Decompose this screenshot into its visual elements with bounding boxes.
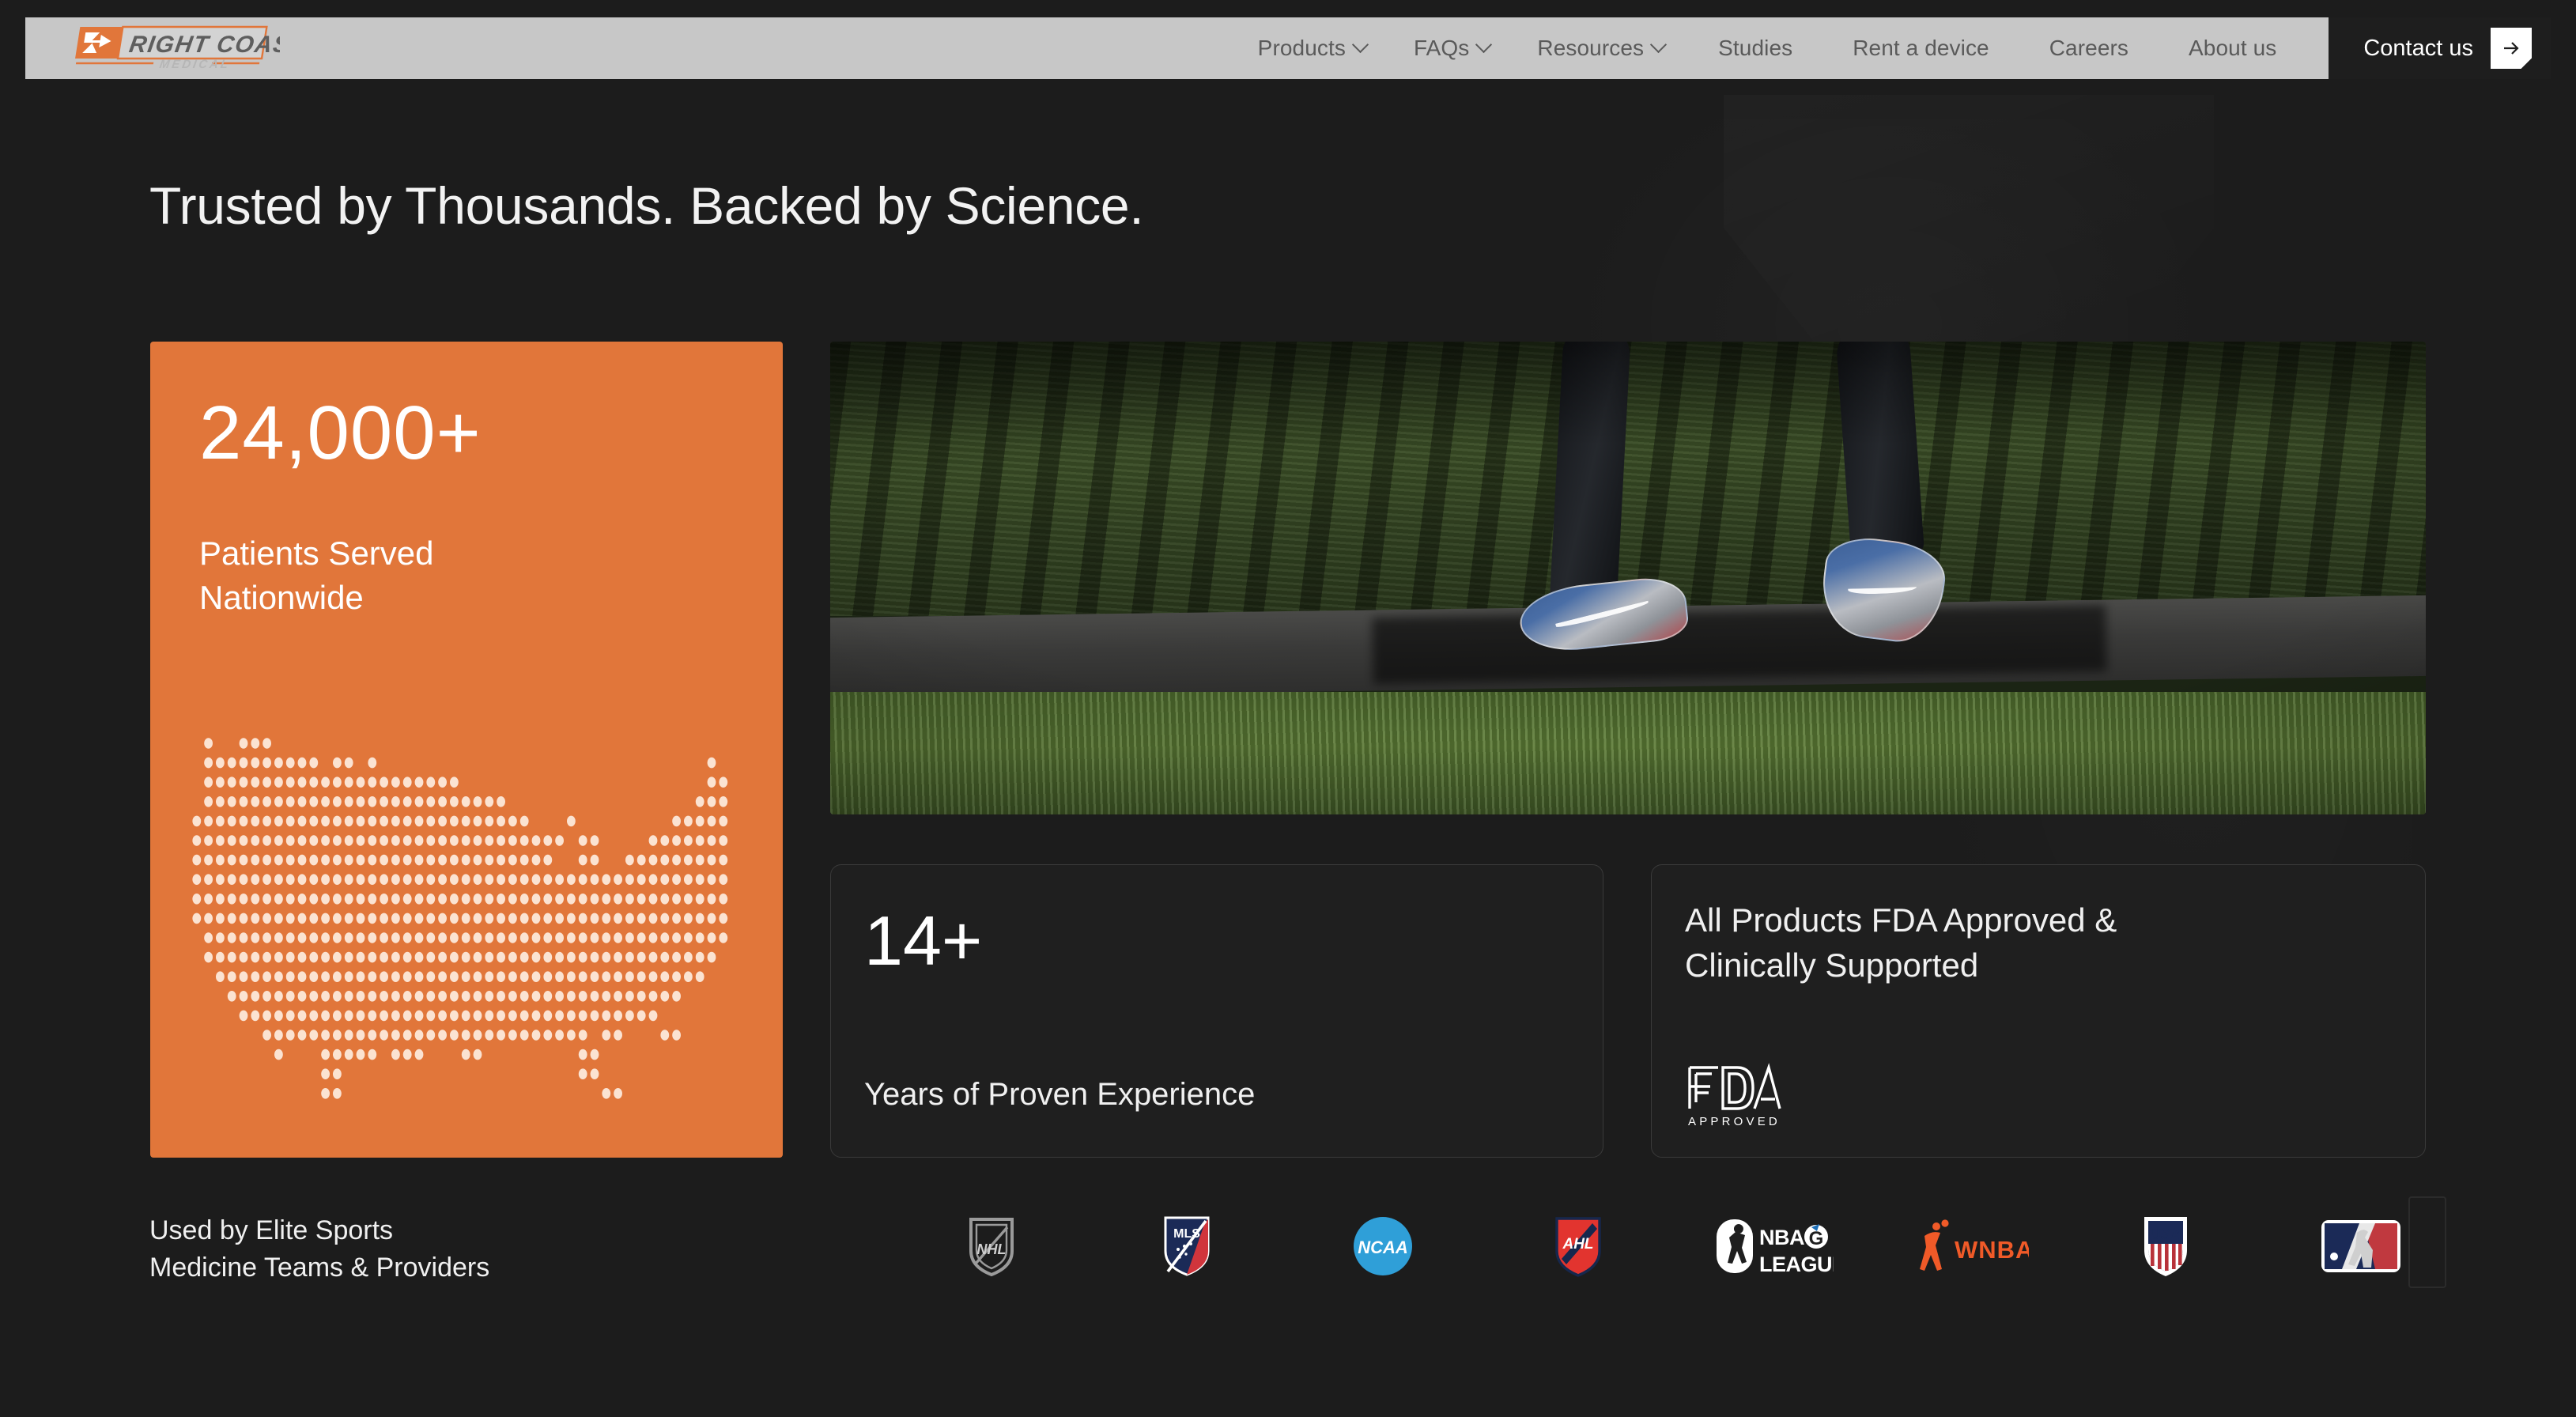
nav-label-resources: Resources [1537, 36, 1644, 61]
patients-served-label-line2: Nationwide [199, 576, 674, 620]
wnba-logo-text: WNBA [1955, 1236, 2029, 1264]
years-experience-value: 14+ [864, 906, 982, 976]
nav-item-careers[interactable]: Careers [2019, 36, 2159, 61]
nav-item-studies[interactable]: Studies [1688, 36, 1822, 61]
nav-item-resources[interactable]: Resources [1513, 36, 1688, 61]
page-root: RIGHT COAST MEDICAL Products FAQs Resour… [0, 0, 2576, 1417]
nav-label-about-us: About us [2189, 36, 2276, 61]
nav-item-faqs[interactable]: FAQs [1390, 36, 1513, 61]
image-vignette [830, 342, 2426, 814]
fda-card-title-line1: All Products FDA Approved & [1685, 898, 2365, 943]
contact-us-button[interactable]: Contact us [2329, 17, 2551, 79]
chevron-down-icon [1352, 36, 1369, 52]
patients-served-card: 24,000+ Patients Served Nationwide [150, 342, 783, 1158]
patients-served-value: 24,000+ [199, 395, 482, 471]
ahl-logo-text: AHL [1562, 1236, 1594, 1253]
svg-text:NBA: NBA [1759, 1226, 1804, 1249]
logo-strip-partial-item[interactable] [2408, 1196, 2446, 1288]
logo-strip-label-line2: Medicine Teams & Providers [149, 1249, 489, 1287]
years-experience-label: Years of Proven Experience [864, 1077, 1255, 1113]
fda-approved-card: All Products FDA Approved & Clinically S… [1651, 864, 2426, 1158]
mls-logo[interactable]: MLS [1090, 1192, 1286, 1300]
nav-item-rent-a-device[interactable]: Rent a device [1822, 36, 2019, 61]
nba-g-league-logo[interactable]: NBA G LEAGUE NBA G LEAGUE [1676, 1192, 1872, 1300]
patients-served-label-line1: Patients Served [199, 531, 674, 576]
wnba-logo[interactable]: WNBA [1872, 1192, 2068, 1300]
nav-label-careers: Careers [2049, 36, 2128, 61]
nav-label-rent-a-device: Rent a device [1853, 36, 1989, 61]
logo-strip-label: Used by Elite Sports Medicine Teams & Pr… [149, 1212, 489, 1286]
chevron-down-icon [1475, 36, 1492, 52]
fda-approved-badge: APPROVED FDA [1685, 1063, 1781, 1132]
brand-logo[interactable]: RIGHT COAST MEDICAL [66, 24, 280, 74]
mls-logo-text: MLS [1173, 1227, 1200, 1241]
hero-image [830, 342, 2426, 814]
ahl-logo[interactable]: AHL [1481, 1192, 1677, 1300]
svg-text:G: G [1808, 1228, 1823, 1249]
years-experience-card: 14+ Years of Proven Experience [830, 864, 1603, 1158]
contact-us-label: Contact us [2363, 36, 2473, 62]
main-navigation: Products FAQs Resources Studies Rent a d… [1234, 17, 2551, 79]
logo-strip-label-line1: Used by Elite Sports [149, 1212, 489, 1249]
ncaa-logo-text: NCAA [1358, 1238, 1408, 1257]
hero-image-scene [830, 342, 2426, 814]
nhl-logo-text: NHL [976, 1241, 1006, 1257]
ncaa-logo[interactable]: NCAA [1285, 1192, 1481, 1300]
arrow-right-icon [2491, 28, 2532, 69]
fda-badge-sub: APPROVED [1688, 1115, 1781, 1128]
nhl-logo[interactable]: NHL [893, 1192, 1090, 1300]
nav-label-studies: Studies [1718, 36, 1792, 61]
dotted-us-map-graphic [182, 737, 751, 1109]
patients-served-label: Patients Served Nationwide [199, 531, 674, 621]
svg-text:LEAGUE: LEAGUE [1759, 1253, 1834, 1276]
fda-card-title-line2: Clinically Supported [1685, 943, 2365, 988]
usa-soccer-logo[interactable]: USA [2068, 1192, 2264, 1300]
nav-label-products: Products [1258, 36, 1346, 61]
site-header: RIGHT COAST MEDICAL Products FAQs Resour… [25, 17, 2551, 79]
fda-card-title: All Products FDA Approved & Clinically S… [1685, 898, 2365, 988]
nav-item-products[interactable]: Products [1234, 36, 1390, 61]
partner-logo-strip: NHL MLS NCAA [893, 1192, 2459, 1300]
usa-soccer-logo-text: USA [2150, 1226, 2181, 1243]
page-title: Trusted by Thousands. Backed by Science. [149, 176, 1143, 236]
chevron-down-icon [1650, 36, 1667, 52]
nav-item-about-us[interactable]: About us [2159, 36, 2306, 61]
nav-label-faqs: FAQs [1414, 36, 1469, 61]
brand-logo-primary: RIGHT COAST [127, 32, 280, 58]
brand-logo-secondary: MEDICAL [159, 58, 232, 70]
